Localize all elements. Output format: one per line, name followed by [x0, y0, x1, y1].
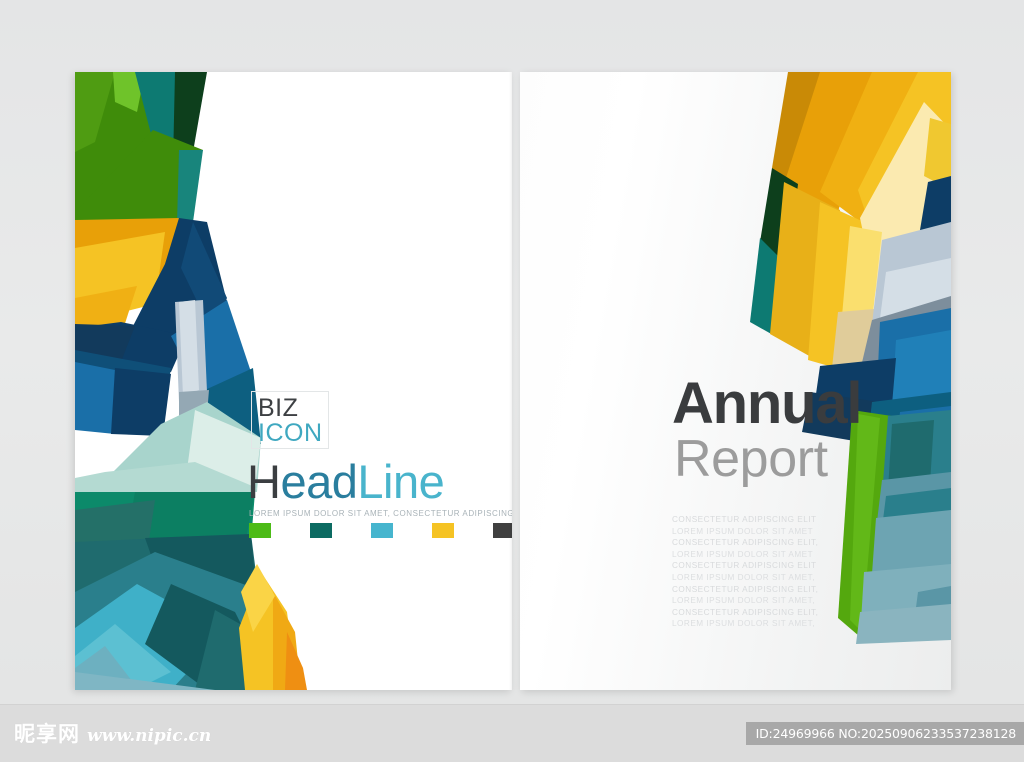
headline-part-3: Line	[357, 455, 444, 508]
logo-biz-text: BIZ	[258, 396, 328, 421]
body-line: CONSECTETUR ADIPISCING ELIT	[672, 514, 818, 526]
body-line: LOREM IPSUM DOLOR SIT AMET,	[672, 572, 818, 584]
swatch-yellow	[432, 523, 454, 538]
page-backdrop: BIZ ICON HeadLine LOREM IPSUM DOLOR SIT …	[0, 0, 1024, 762]
page-title-primary: Annual	[672, 375, 861, 433]
swatch-dark-teal	[310, 523, 332, 538]
watermark-brand-cn: 昵享网	[14, 718, 80, 748]
swatch-dark-gray	[493, 523, 512, 538]
body-line: CONSECTETUR ADIPISCING ELIT,	[672, 607, 818, 619]
logo-icon-text: ICON	[258, 421, 328, 446]
swatch-cyan	[371, 523, 393, 538]
body-line: CONSECTETUR ADIPISCING ELIT,	[672, 537, 818, 549]
body-line: LOREM IPSUM DOLOR SIT AMET,	[672, 595, 818, 607]
watermark-footer: 昵享网 www.nipic.cn ID:24969966 NO:20250906…	[0, 704, 1024, 762]
headline: HeadLine	[247, 458, 444, 505]
page-title-secondary: Report	[674, 433, 828, 485]
brochure-right-page: Annual Report CONSECTETUR ADIPISCING ELI…	[520, 72, 951, 690]
image-id-badge: ID:24969966 NO:20250906233537238128	[746, 722, 1024, 745]
brochure-spread: BIZ ICON HeadLine LOREM IPSUM DOLOR SIT …	[75, 72, 951, 690]
body-line: LOREM IPSUM DOLOR SIT AMET	[672, 526, 818, 538]
logo-box: BIZ ICON	[251, 391, 329, 449]
headline-part-2: ead	[280, 455, 357, 508]
swatch-green	[249, 523, 271, 538]
body-line: LOREM IPSUM DOLOR SIT AMET,	[672, 618, 818, 630]
brochure-left-page: BIZ ICON HeadLine LOREM IPSUM DOLOR SIT …	[75, 72, 512, 690]
nipic-watermark-logo: 昵享网 www.nipic.cn	[14, 718, 211, 748]
headline-part-1: H	[247, 455, 280, 508]
body-line: LOREM IPSUM DOLOR SIT AMET	[672, 549, 818, 561]
color-swatch-row	[249, 523, 512, 538]
body-line: CONSECTETUR ADIPISCING ELIT	[672, 560, 818, 572]
headline-subtitle: LOREM IPSUM DOLOR SIT AMET, CONSECTETUR …	[249, 509, 512, 518]
body-line: CONSECTETUR ADIPISCING ELIT,	[672, 584, 818, 596]
body-text-block: CONSECTETUR ADIPISCING ELIT LOREM IPSUM …	[672, 514, 818, 630]
watermark-url: www.nipic.cn	[87, 726, 211, 746]
left-page-artwork	[75, 72, 512, 690]
